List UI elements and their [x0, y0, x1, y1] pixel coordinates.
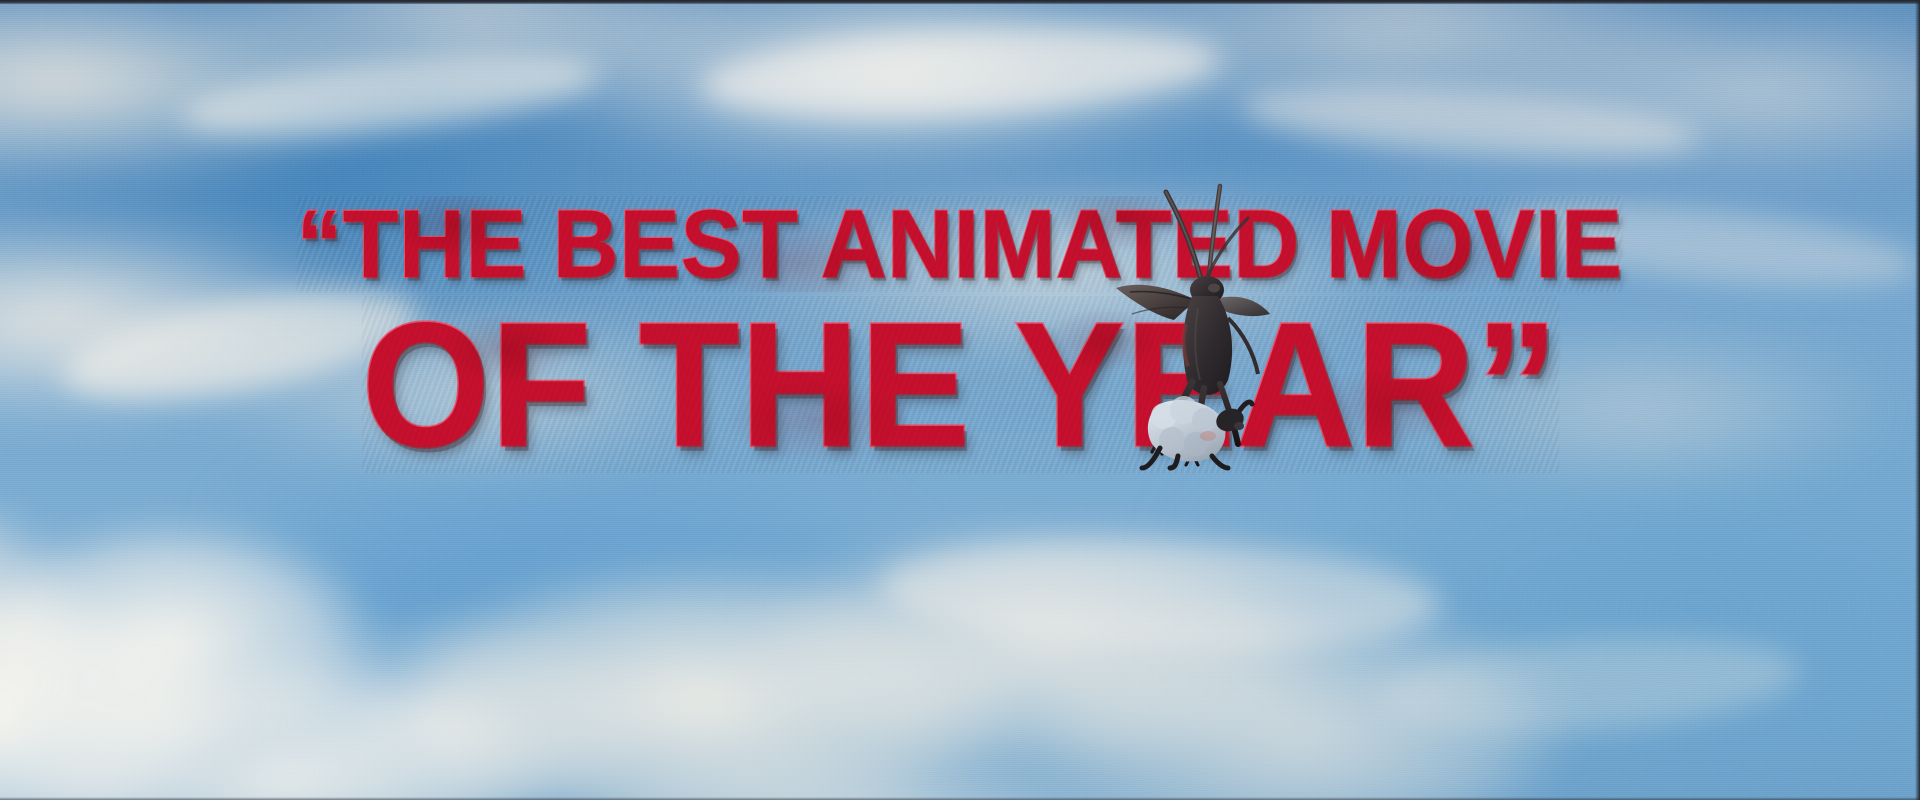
letterbox-top-edge	[0, 0, 1920, 4]
closing-quote-mark: ”	[1475, 286, 1558, 484]
quote-line-2-glyphs: OF THE YEAR”	[361, 296, 1558, 473]
letterbox-right-edge	[1915, 0, 1920, 800]
opening-quote-mark: “	[297, 190, 343, 298]
movie-quote-frame: “THE BEST ANIMATED MOVIE OF THE YEAR”	[0, 0, 1920, 800]
quote-line-2-text: OF THE YEAR	[361, 286, 1475, 484]
quote-line-2: OF THE YEAR”	[0, 296, 1920, 473]
quote-line-1-text: THE BEST ANIMATED MOVIE	[343, 190, 1623, 298]
quote-line-1: “THE BEST ANIMATED MOVIE	[0, 196, 1920, 292]
quote-line-1-glyphs: “THE BEST ANIMATED MOVIE	[297, 196, 1623, 292]
